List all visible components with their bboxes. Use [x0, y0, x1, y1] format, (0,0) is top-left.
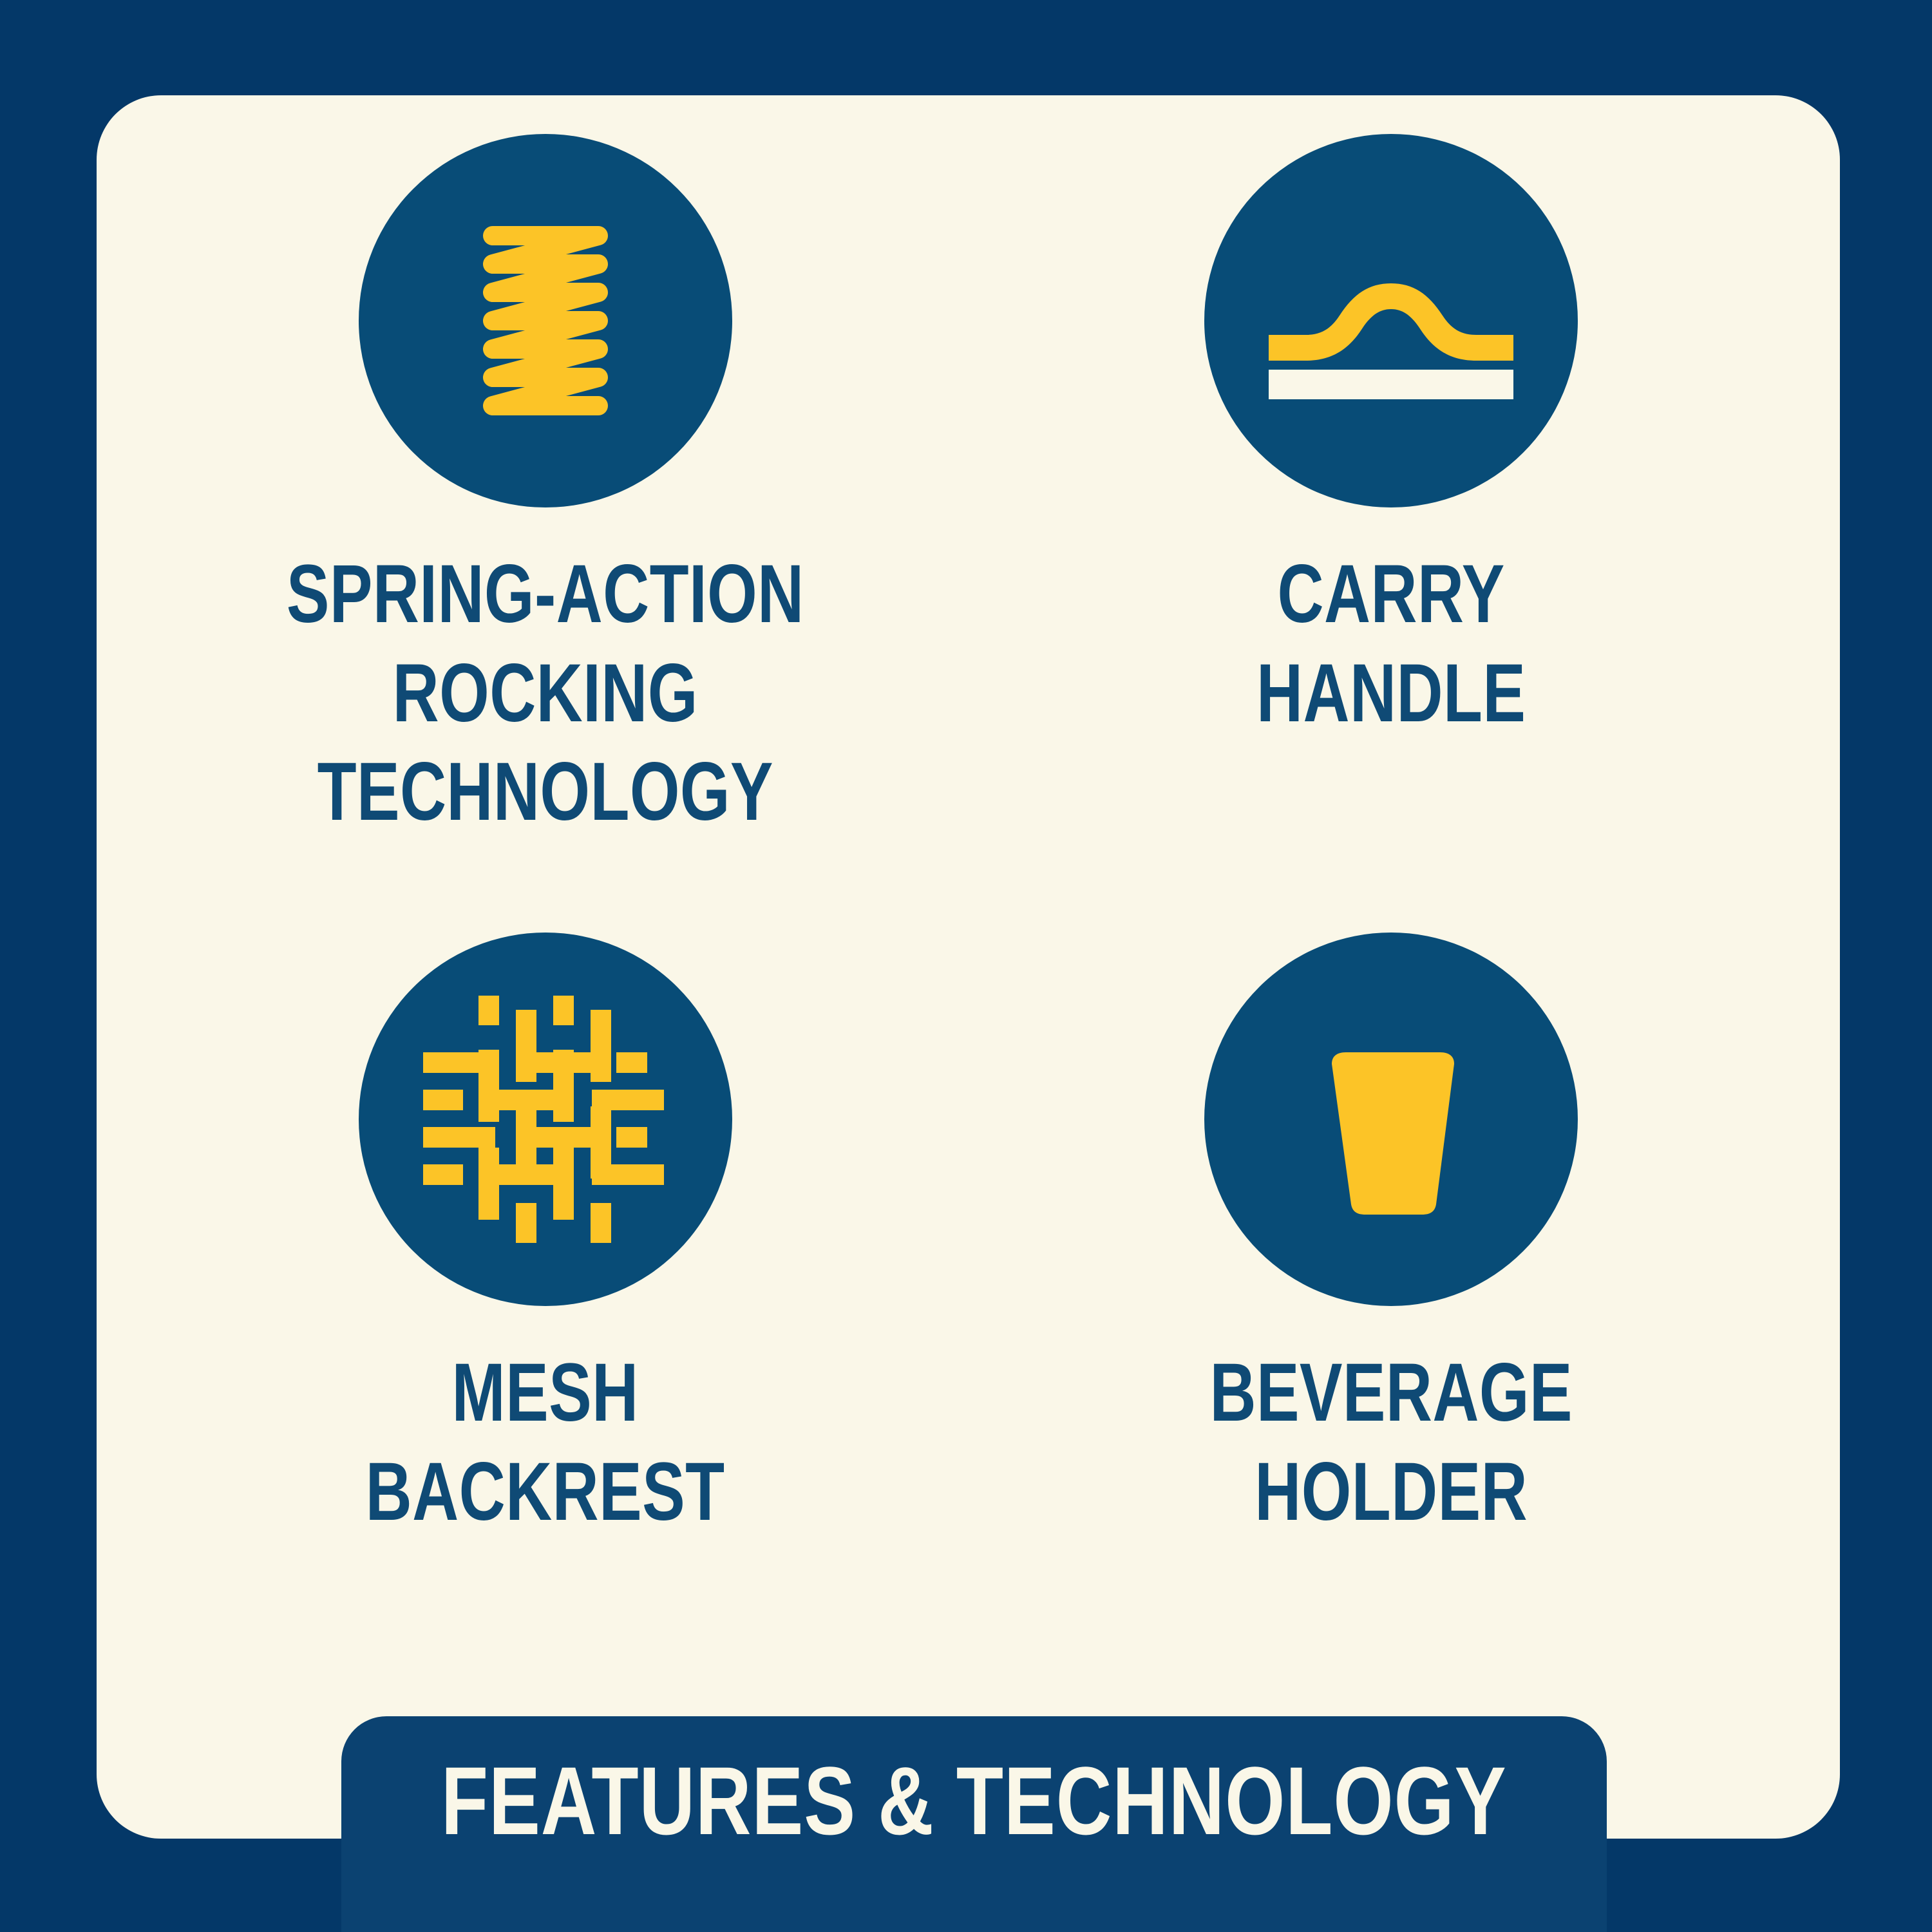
banner-title: FEATURES & TECHNOLOGY: [441, 1752, 1507, 1849]
feature-grid: SPRING-ACTION ROCKING TECHNOLOGY CARRY H…: [97, 95, 1840, 1712]
coil-spring-icon: [410, 185, 681, 456]
icon-circle-spring: [359, 134, 732, 507]
feature-label-spring: SPRING-ACTION ROCKING TECHNOLOGY: [215, 545, 875, 842]
feature-carry-handle: CARRY HANDLE: [969, 115, 1815, 913]
beverage-cup-icon: [1256, 984, 1526, 1255]
feature-beverage-holder: BEVERAGE HOLDER: [969, 913, 1815, 1712]
icon-circle-mesh: [359, 933, 732, 1306]
feature-label-handle: CARRY HANDLE: [1256, 545, 1526, 743]
icon-circle-handle: [1204, 134, 1578, 507]
feature-label-beverage: BEVERAGE HOLDER: [1210, 1343, 1573, 1541]
carry-handle-icon: [1243, 173, 1539, 469]
icon-circle-beverage: [1204, 933, 1578, 1306]
mesh-weave-icon: [417, 990, 674, 1248]
features-technology-banner: FEATURES & TECHNOLOGY: [341, 1716, 1607, 1932]
feature-label-mesh: MESH BACKREST: [366, 1343, 725, 1541]
feature-spring-action: SPRING-ACTION ROCKING TECHNOLOGY: [122, 115, 969, 913]
features-technology-poster: SPRING-ACTION ROCKING TECHNOLOGY CARRY H…: [0, 0, 1932, 1932]
feature-mesh-backrest: MESH BACKREST: [122, 913, 969, 1712]
